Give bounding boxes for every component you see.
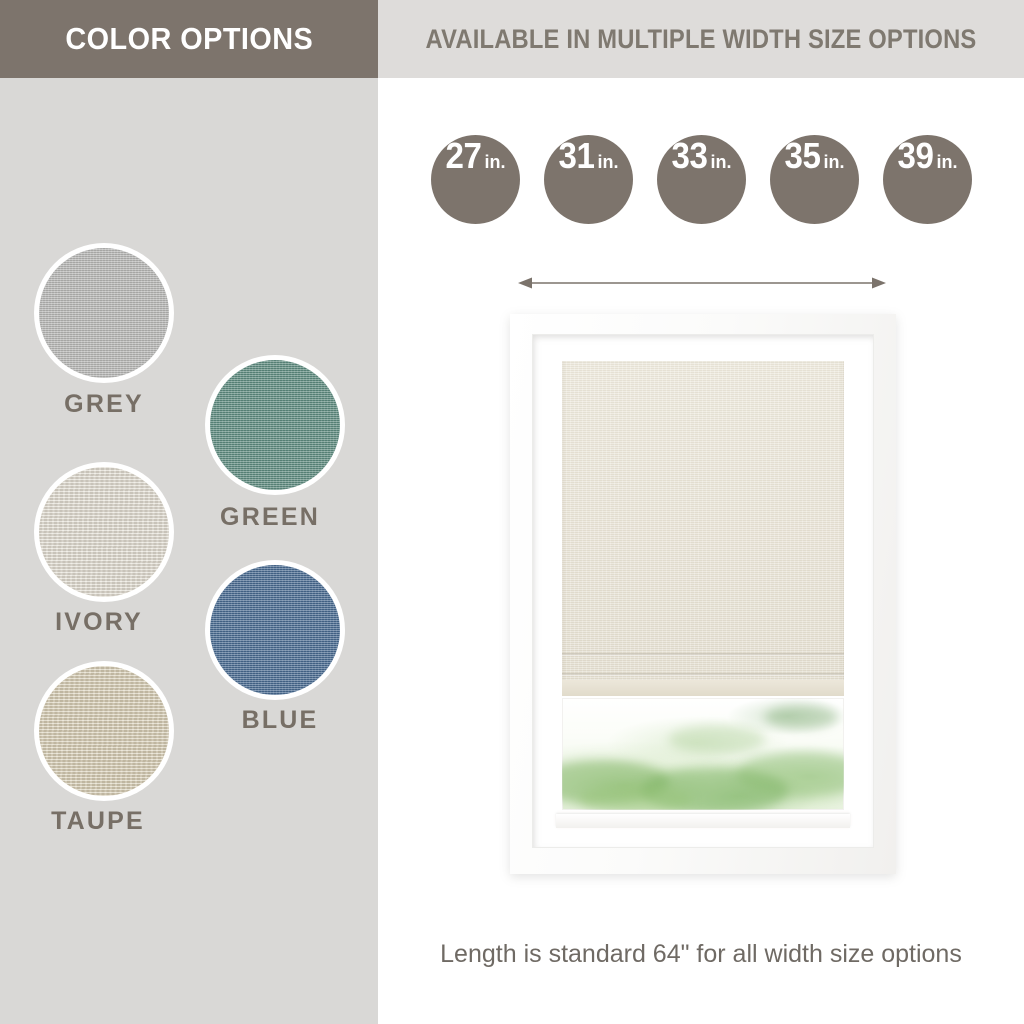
swatch-green[interactable] <box>210 360 340 490</box>
size-badge-27-unit: in. <box>485 152 506 173</box>
shade-fold <box>562 673 844 676</box>
foliage-blob <box>579 785 692 810</box>
size-badge-33-value: 33 <box>672 135 708 177</box>
size-badge-35-value: 35 <box>785 135 821 177</box>
size-badge-list: 27 in. 31 in. 33 in. 35 in. 39 in. <box>378 135 1024 224</box>
swatch-blue[interactable] <box>210 565 340 695</box>
size-badge-27[interactable]: 27 in. <box>431 135 520 224</box>
size-badge-39-value: 39 <box>898 135 934 177</box>
size-badge-35[interactable]: 35 in. <box>770 135 859 224</box>
window-glass-view <box>562 698 844 810</box>
swatch-taupe-texture <box>39 666 169 796</box>
color-options-sidebar: GREY IVORY TAUPE GREEN BLUE <box>0 78 378 1024</box>
size-badge-39-unit: in. <box>937 152 958 173</box>
swatch-green-texture <box>210 360 340 490</box>
size-badge-31-value: 31 <box>559 135 595 177</box>
size-badge-31-unit: in. <box>598 152 619 173</box>
infographic-page: COLOR OPTIONS AVAILABLE IN MULTIPLE WIDT… <box>0 0 1024 1024</box>
size-badge-33-unit: in. <box>711 152 732 173</box>
foliage-blob <box>765 705 838 730</box>
window-frame-inner <box>532 334 874 848</box>
window-product-illustration <box>510 314 896 874</box>
header-color-options-title: COLOR OPTIONS <box>65 21 313 57</box>
header-width-options: AVAILABLE IN MULTIPLE WIDTH SIZE OPTIONS <box>378 0 1024 78</box>
size-badge-31[interactable]: 31 in. <box>544 135 633 224</box>
header-color-options: COLOR OPTIONS <box>0 0 378 78</box>
length-caption: Length is standard 64" for all width siz… <box>378 940 1024 969</box>
swatch-label-taupe: TAUPE <box>33 807 163 836</box>
roman-shade[interactable] <box>562 361 844 696</box>
swatch-grey-texture <box>39 248 169 378</box>
size-badge-35-unit: in. <box>824 152 845 173</box>
swatch-ivory[interactable] <box>39 467 169 597</box>
swatch-label-grey: GREY <box>39 390 169 419</box>
foliage-blob <box>669 725 765 754</box>
width-dimension-arrow-icon <box>518 274 886 292</box>
swatch-blue-texture <box>210 565 340 695</box>
size-badge-27-value: 27 <box>446 135 482 177</box>
size-badge-39[interactable]: 39 in. <box>883 135 972 224</box>
size-badge-33[interactable]: 33 in. <box>657 135 746 224</box>
swatch-label-blue: BLUE <box>215 706 345 735</box>
swatch-taupe[interactable] <box>39 666 169 796</box>
swatch-label-ivory: IVORY <box>34 608 164 637</box>
shade-hem <box>562 680 844 696</box>
swatch-ivory-texture <box>39 467 169 597</box>
width-options-panel: 27 in. 31 in. 33 in. 35 in. 39 in. <box>378 78 1024 1024</box>
swatch-grey[interactable] <box>39 248 169 378</box>
shade-fold <box>562 653 844 656</box>
swatch-label-green: GREEN <box>205 503 335 532</box>
window-sill <box>556 814 850 828</box>
header-width-options-title: AVAILABLE IN MULTIPLE WIDTH SIZE OPTIONS <box>426 24 977 55</box>
